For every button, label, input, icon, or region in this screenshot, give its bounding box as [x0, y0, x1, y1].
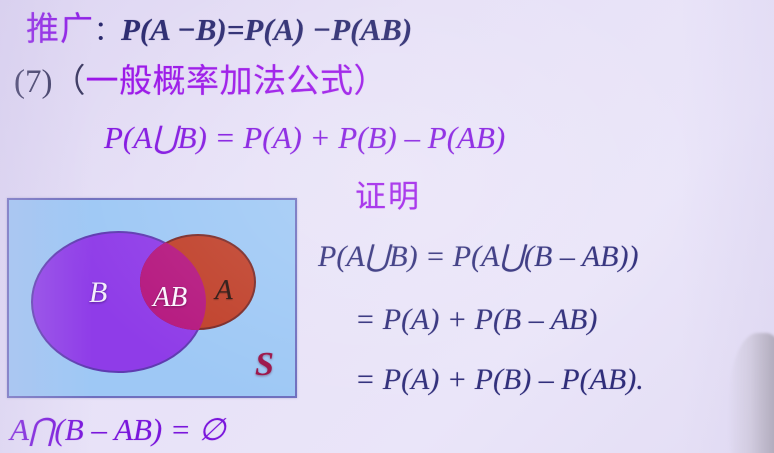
disjoint-statement: A⋂(B – AB) = ∅	[10, 414, 226, 445]
venn-diagram: B AB A S	[7, 198, 297, 398]
proof-line-1: P(A⋃B) = P(A⋃(B – AB))	[318, 242, 638, 272]
venn-label-ab: AB	[153, 284, 187, 312]
generalize-label: 推广	[26, 9, 94, 48]
proof-line-3: = P(A) + P(B) – P(AB).	[355, 365, 644, 395]
generalize-formula: P(A −B)=P(A) −P(AB)	[121, 12, 412, 47]
item-number: (7)	[14, 64, 52, 100]
item-paren-open: （	[52, 61, 85, 100]
venn-label-b: B	[89, 278, 107, 308]
item-paren-close: ）	[353, 61, 387, 100]
lecture-slide: 推广：P(A −B)=P(A) −P(AB) (7)（一般概率加法公式） P(A…	[0, 0, 774, 453]
item-title: 一般概率加法公式	[85, 61, 353, 100]
venn-label-s: S	[255, 348, 274, 382]
generalization-line: 推广：P(A −B)=P(A) −P(AB)	[26, 12, 412, 47]
proof-heading: 证明	[355, 182, 421, 213]
presenter-silhouette	[728, 333, 774, 453]
venn-label-a: A	[215, 276, 233, 305]
proof-line-2: = P(A) + P(B – AB)	[355, 305, 597, 335]
generalize-colon: ：	[94, 16, 121, 47]
item-7-line: (7)（一般概率加法公式）	[14, 64, 387, 99]
addition-formula: P(A⋃B) = P(A) + P(B) – P(AB)	[104, 122, 505, 153]
